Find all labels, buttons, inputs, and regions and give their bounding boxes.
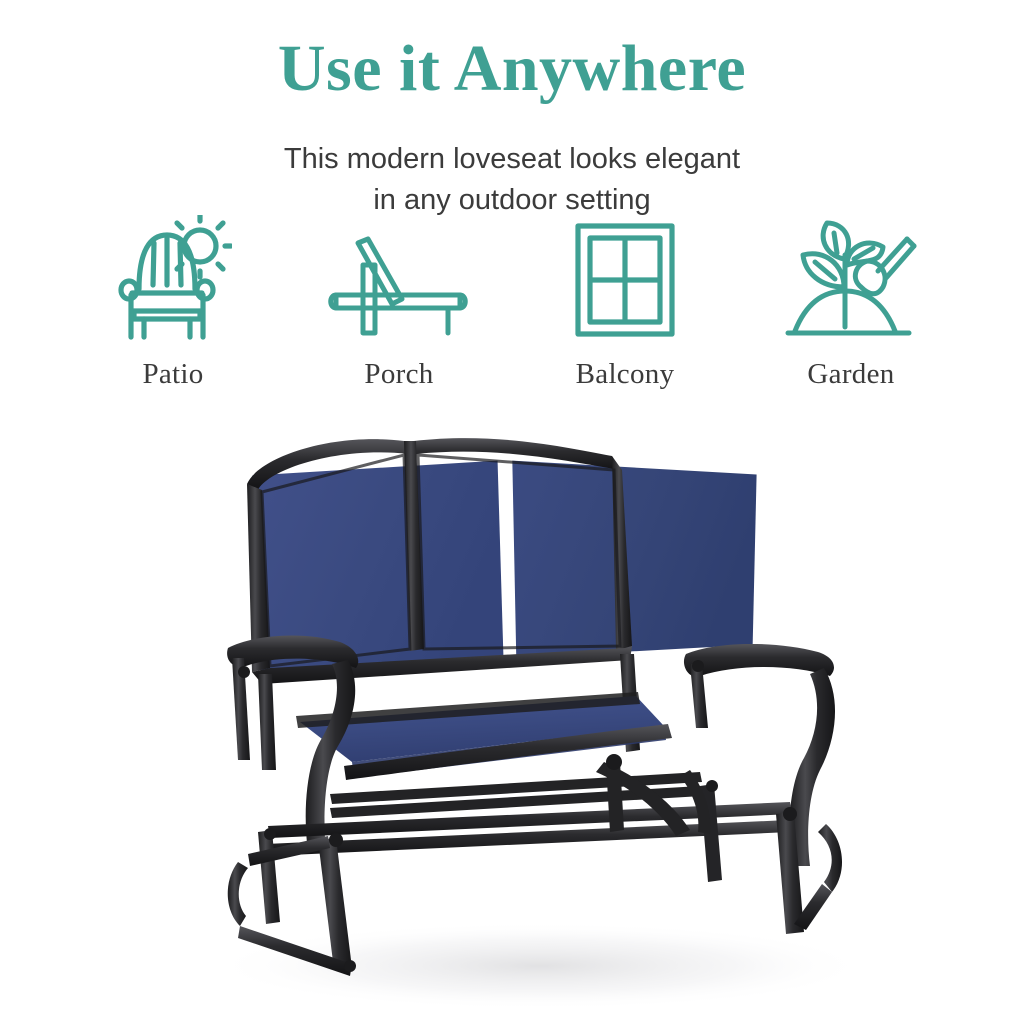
subtitle-line-1: This modern loveseat looks elegant [0, 139, 1024, 180]
feature-label-garden: Garden [807, 358, 894, 391]
feature-label-balcony: Balcony [576, 358, 675, 391]
feature-item-balcony: Balcony [512, 215, 738, 391]
page-title: Use it Anywhere [0, 34, 1024, 103]
window-icon [573, 215, 677, 340]
feature-label-porch: Porch [364, 358, 433, 391]
feature-item-garden: Garden [738, 215, 964, 391]
product-image-glider-loveseat [0, 410, 1024, 1024]
chaise-lounge-icon [324, 215, 474, 340]
feature-list: Patio Porch [60, 215, 964, 400]
feature-item-porch: Porch [286, 215, 512, 391]
armrest-right [684, 644, 834, 677]
adirondack-chair-sun-icon [114, 215, 232, 340]
backrest-panel-right [512, 461, 756, 658]
feature-label-patio: Patio [142, 358, 203, 391]
subtitle: This modern loveseat looks elegant in an… [0, 139, 1024, 221]
product-infographic: Use it Anywhere This modern loveseat loo… [0, 0, 1024, 1024]
feature-item-patio: Patio [60, 215, 286, 391]
plant-shovel-icon [785, 215, 917, 340]
